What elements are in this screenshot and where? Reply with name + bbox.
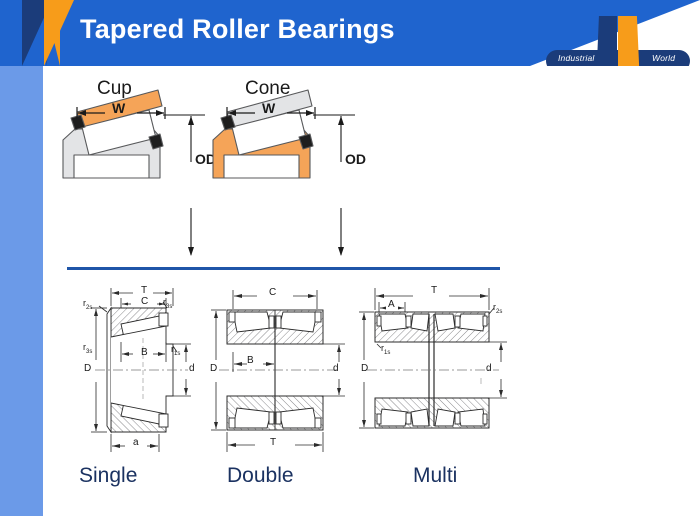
- multi-label-T: T: [431, 285, 437, 296]
- single-label-d: d: [189, 363, 195, 374]
- page-title: Tapered Roller Bearings: [80, 14, 395, 45]
- header-orange-triangle-2: [44, 0, 60, 66]
- single-r3s2-sub: 3s: [166, 304, 172, 310]
- multi-label-r1s: r1s: [381, 343, 390, 356]
- figure-cone-title: Cone: [245, 78, 290, 100]
- multi-r1s-sub: 1s: [384, 350, 390, 356]
- single-r2s-sub: 2s: [86, 305, 92, 311]
- cone-od-dimension: [313, 112, 363, 260]
- single-label-C: C: [141, 296, 148, 307]
- multi-r2s-sub: 2s: [496, 309, 502, 315]
- cone-width-label: W: [262, 100, 275, 116]
- single-label-r3s-right: r3s: [163, 297, 172, 310]
- left-accent-sidebar: [0, 66, 43, 516]
- double-label-T: T: [270, 437, 276, 448]
- single-r3s-sub: 3s: [86, 349, 92, 355]
- single-label-B: B: [141, 347, 148, 358]
- slide-body: Cup W: [43, 66, 700, 516]
- slide-root: Tapered Roller Bearings Industrial World: [0, 0, 700, 516]
- multi-label-D: D: [361, 363, 368, 374]
- logo-label-industrial: Industrial: [558, 53, 595, 63]
- multi-label-r2s: r2s: [493, 302, 502, 315]
- double-label-D: D: [210, 363, 217, 374]
- single-label-r1s: r1s: [171, 344, 180, 357]
- double-label-d: d: [333, 363, 339, 374]
- cup-od-dimension: [163, 112, 213, 260]
- single-label-a: a: [133, 437, 139, 448]
- figure-cup-title: Cup: [97, 78, 132, 100]
- double-label-C: C: [269, 287, 276, 298]
- multi-label-d: d: [486, 363, 492, 374]
- single-label-r3s-left: r3s: [83, 342, 92, 355]
- caption-multi: Multi: [413, 464, 457, 488]
- logo-label-world: World: [652, 53, 675, 63]
- single-label-r2s: r2s: [83, 298, 92, 311]
- caption-single: Single: [79, 464, 137, 488]
- figure-multi: [355, 280, 535, 460]
- multi-label-A: A: [388, 299, 395, 310]
- single-label-T: T: [141, 285, 147, 296]
- single-label-D: D: [84, 363, 91, 374]
- cone-od-label: OD: [345, 151, 366, 167]
- caption-double: Double: [227, 464, 294, 488]
- single-r1s-sub: 1s: [174, 351, 180, 357]
- double-label-B: B: [247, 355, 254, 366]
- cup-width-label: W: [112, 100, 125, 116]
